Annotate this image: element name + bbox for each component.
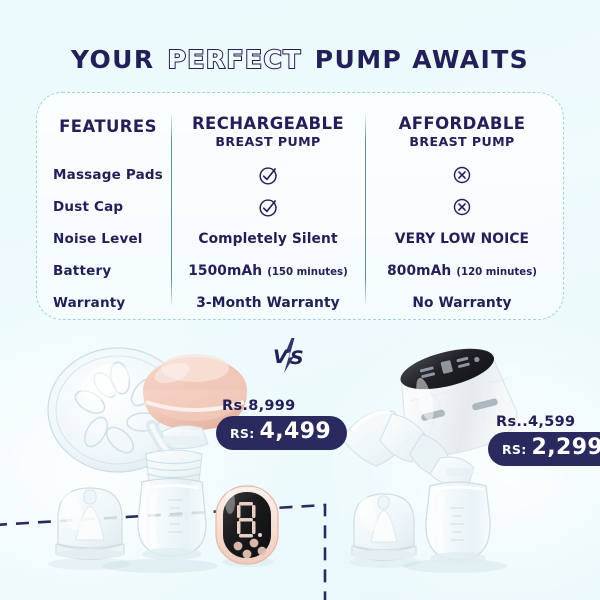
rechargeable-value-sub: (150 minutes) <box>267 267 348 278</box>
column-header-title: AFFORDABLE <box>367 115 557 133</box>
sale-price-left: 4,499 <box>260 421 332 443</box>
page-title: YOUR PERFECT PUMP AWAITS <box>0 45 600 74</box>
column-header-title: FEATURES <box>45 118 171 136</box>
affordable-cell: No Warranty <box>367 287 557 319</box>
feature-label: Battery <box>53 255 171 287</box>
affordable-value: No Warranty <box>412 295 511 311</box>
column-header-features: FEATURES <box>45 118 171 136</box>
price-block-left: Rs.8,999 RS: 4,499 <box>222 398 347 450</box>
affordable-cell: VERY LOW NOICE <box>367 223 557 255</box>
currency-label-right: RS: <box>502 442 527 457</box>
rechargeable-value: 1500mAh(150 minutes) <box>188 263 348 279</box>
comparison-card: FEATURES RECHARGEABLE BREAST PUMP AFFORD… <box>36 92 564 320</box>
check-circle-icon <box>258 165 279 186</box>
feature-label: Warranty <box>53 287 171 319</box>
sale-price-badge-right[interactable]: RS: 2,299 <box>488 432 600 466</box>
table-row: Dust Cap <box>37 191 563 223</box>
rechargeable-cell: 1500mAh(150 minutes) <box>173 255 363 287</box>
nipple-cap <box>56 488 124 560</box>
affordable-cell <box>367 159 557 191</box>
cross-circle-icon <box>452 197 472 217</box>
rechargeable-cell: Completely Silent <box>173 223 363 255</box>
title-part-1: YOUR <box>71 45 155 74</box>
feature-label: Dust Cap <box>53 191 171 223</box>
rechargeable-cell <box>173 159 363 191</box>
rechargeable-cell <box>173 191 363 223</box>
original-price-right: Rs..4,599 <box>496 414 600 430</box>
table-row: Noise LevelCompletely SilentVERY LOW NOI… <box>37 223 563 255</box>
table-row: Warranty3-Month WarrantyNo Warranty <box>37 287 563 319</box>
title-part-2: PUMP AWAITS <box>315 45 529 74</box>
sale-price-badge-left[interactable]: RS: 4,499 <box>216 416 347 450</box>
cross-circle-icon <box>452 165 472 185</box>
rechargeable-value: 3-Month Warranty <box>196 295 340 311</box>
affordable-cell <box>367 191 557 223</box>
rechargeable-cell: 3-Month Warranty <box>173 287 363 319</box>
feature-label: Noise Level <box>53 223 171 255</box>
column-header-subtitle: BREAST PUMP <box>173 134 363 150</box>
column-header-affordable: AFFORDABLE BREAST PUMP <box>367 115 557 150</box>
price-block-right: Rs..4,599 RS: 2,299 <box>496 414 600 466</box>
table-row: Battery1500mAh(150 minutes)800mAh(120 mi… <box>37 255 563 287</box>
rechargeable-value: Completely Silent <box>198 231 337 247</box>
original-price-left: Rs.8,999 <box>222 398 347 414</box>
currency-label-left: RS: <box>230 426 255 441</box>
affordable-value-sub: (120 minutes) <box>456 267 537 278</box>
sale-price-right: 2,299 <box>532 437 600 459</box>
affordable-cell: 800mAh(120 minutes) <box>367 255 557 287</box>
feature-label: Massage Pads <box>53 159 171 191</box>
product-image-left <box>10 340 290 590</box>
poster-canvas: YOUR PERFECT PUMP AWAITS FEATURES RECHAR… <box>0 0 600 600</box>
column-header-title: RECHARGEABLE <box>173 115 363 133</box>
column-header-subtitle: BREAST PUMP <box>367 134 557 150</box>
table-row: Massage Pads <box>37 159 563 191</box>
nipple-cap <box>352 494 416 561</box>
affordable-value: VERY LOW NOICE <box>395 231 529 247</box>
digital-display-unit <box>216 486 278 564</box>
title-highlight: PERFECT <box>168 45 302 74</box>
milk-bottle <box>426 482 490 564</box>
column-header-rechargeable: RECHARGEABLE BREAST PUMP <box>173 115 363 150</box>
comparison-rows: Massage PadsDust CapNoise LevelCompletel… <box>37 159 563 319</box>
affordable-value: 800mAh(120 minutes) <box>387 263 537 279</box>
milk-bottle <box>138 479 206 561</box>
check-circle-icon <box>258 197 279 218</box>
